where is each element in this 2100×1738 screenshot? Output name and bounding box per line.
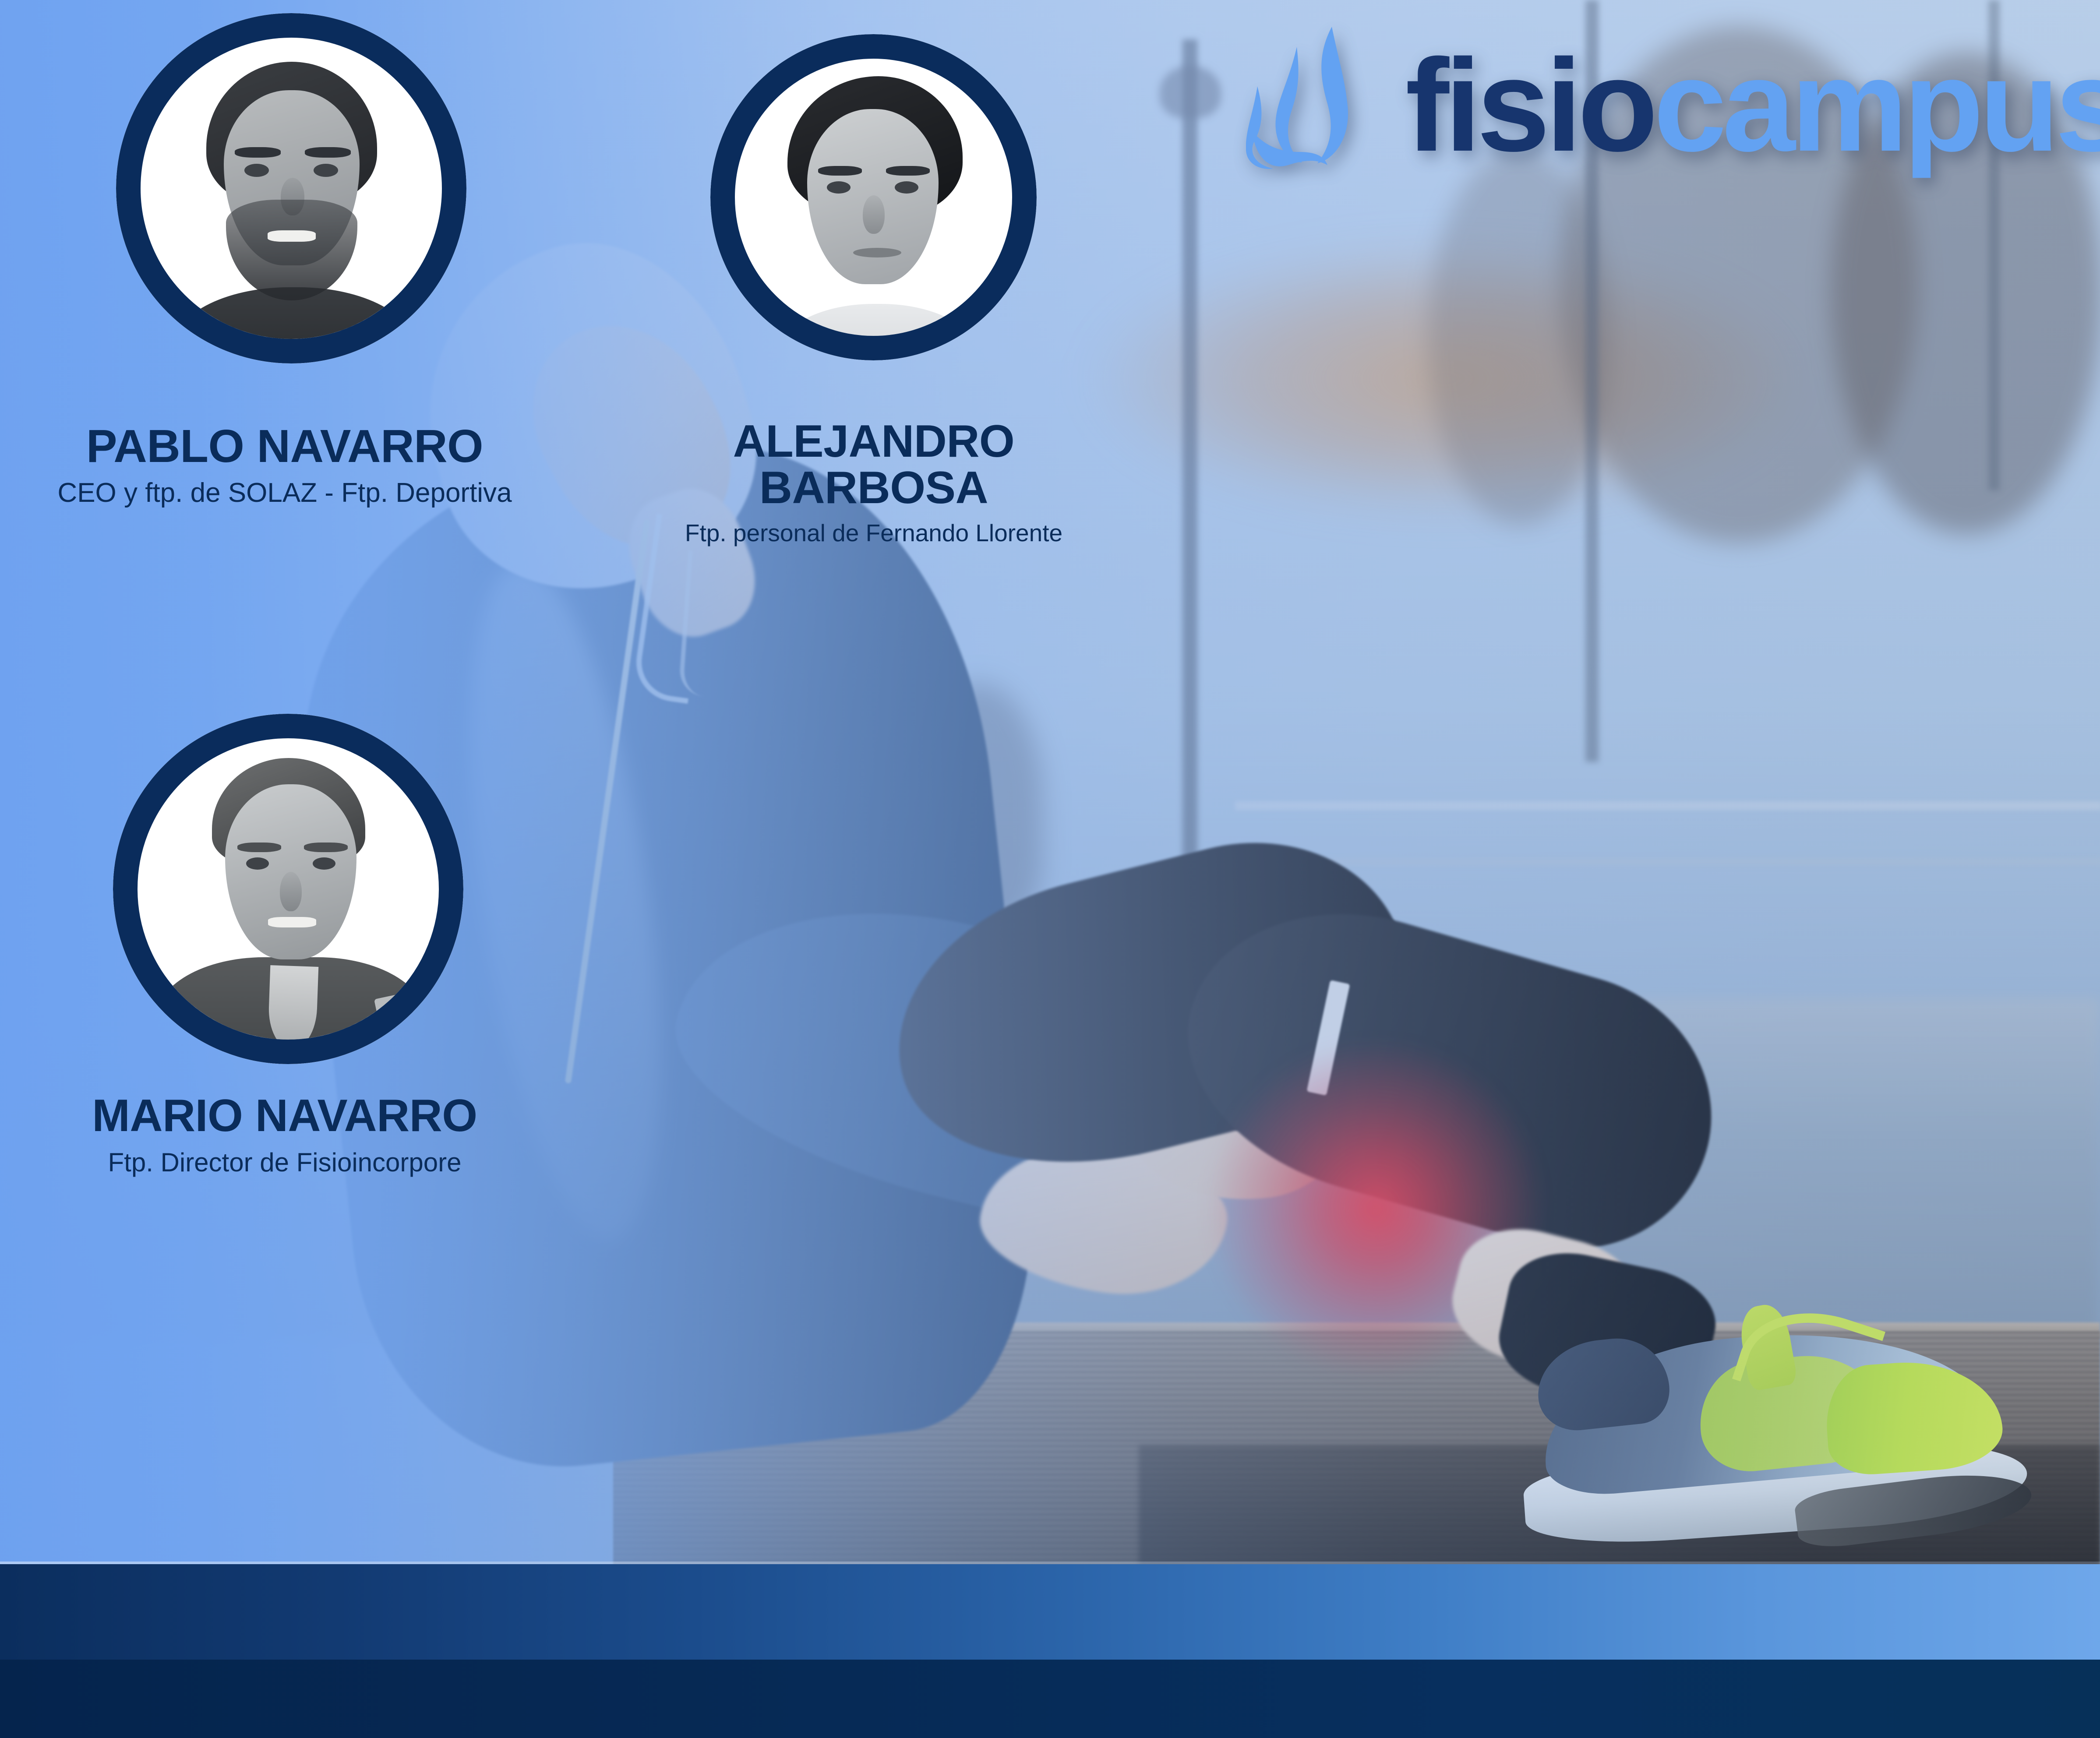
portrait-mouth [853,248,901,257]
portrait-teeth [268,230,316,242]
avatar [116,13,466,363]
portrait-eye [313,857,335,870]
portrait-eye [827,181,851,194]
portrait-nose [863,195,885,234]
portrait-eyebrow [305,147,351,158]
portrait-eye [246,857,269,870]
avatar [710,34,1037,360]
person-name: PABLO NAVARRO [26,423,543,470]
portrait-beard [226,200,357,300]
person-card-alejandro: ALEJANDRO BARBOSA Ftp. personal de Ferna… [626,418,1121,548]
portrait-scrub-vneck [268,965,319,1040]
fisiocampus-logo: fisiocampus [1246,24,2100,186]
portrait-shoulders [774,304,980,336]
person-role: Ftp. Director de Fisioincorpore [22,1146,547,1179]
footer-gradient-band [0,1564,2100,1660]
person-role: Ftp. personal de Fernando Llorente [626,518,1121,548]
footer-dark-band [0,1660,2100,1738]
person-role: CEO y ftp. de SOLAZ - Ftp. Deportiva [26,476,543,510]
logo-wordmark: fisiocampus [1405,49,2100,162]
person-name-line1: ALEJANDRO [626,418,1121,465]
flame-icon [1246,24,1391,186]
person-card-pablo: PABLO NAVARRO CEO y ftp. de SOLAZ - Ftp.… [26,423,543,510]
person-name-line2: BARBOSA [626,465,1121,511]
portrait-eyebrow [235,147,281,158]
portrait-eyebrow [818,166,862,176]
portrait-eyebrow [304,843,348,852]
portrait-eyebrow [237,843,281,852]
portrait-eyebrow [886,166,930,176]
portrait-mario-navarro [138,738,439,1040]
avatar [113,714,463,1064]
portrait-uniform-badge [374,994,402,1022]
promo-poster: PABLO NAVARRO CEO y ftp. de SOLAZ - Ftp.… [0,0,2100,1738]
portrait-nose [280,872,302,911]
logo-text-fisio: fisio [1405,32,1654,179]
portrait-pablo-navarro [141,38,442,339]
logo-text-campus: campus [1654,32,2100,179]
portrait-eye [314,164,338,177]
person-card-mario: MARIO NAVARRO Ftp. Director de Fisioinco… [22,1093,547,1179]
portrait-eye [244,164,269,177]
portrait-eye [895,181,918,194]
person-name: MARIO NAVARRO [22,1093,547,1139]
portrait-alejandro-barbosa [735,59,1012,336]
portrait-teeth [268,917,316,927]
